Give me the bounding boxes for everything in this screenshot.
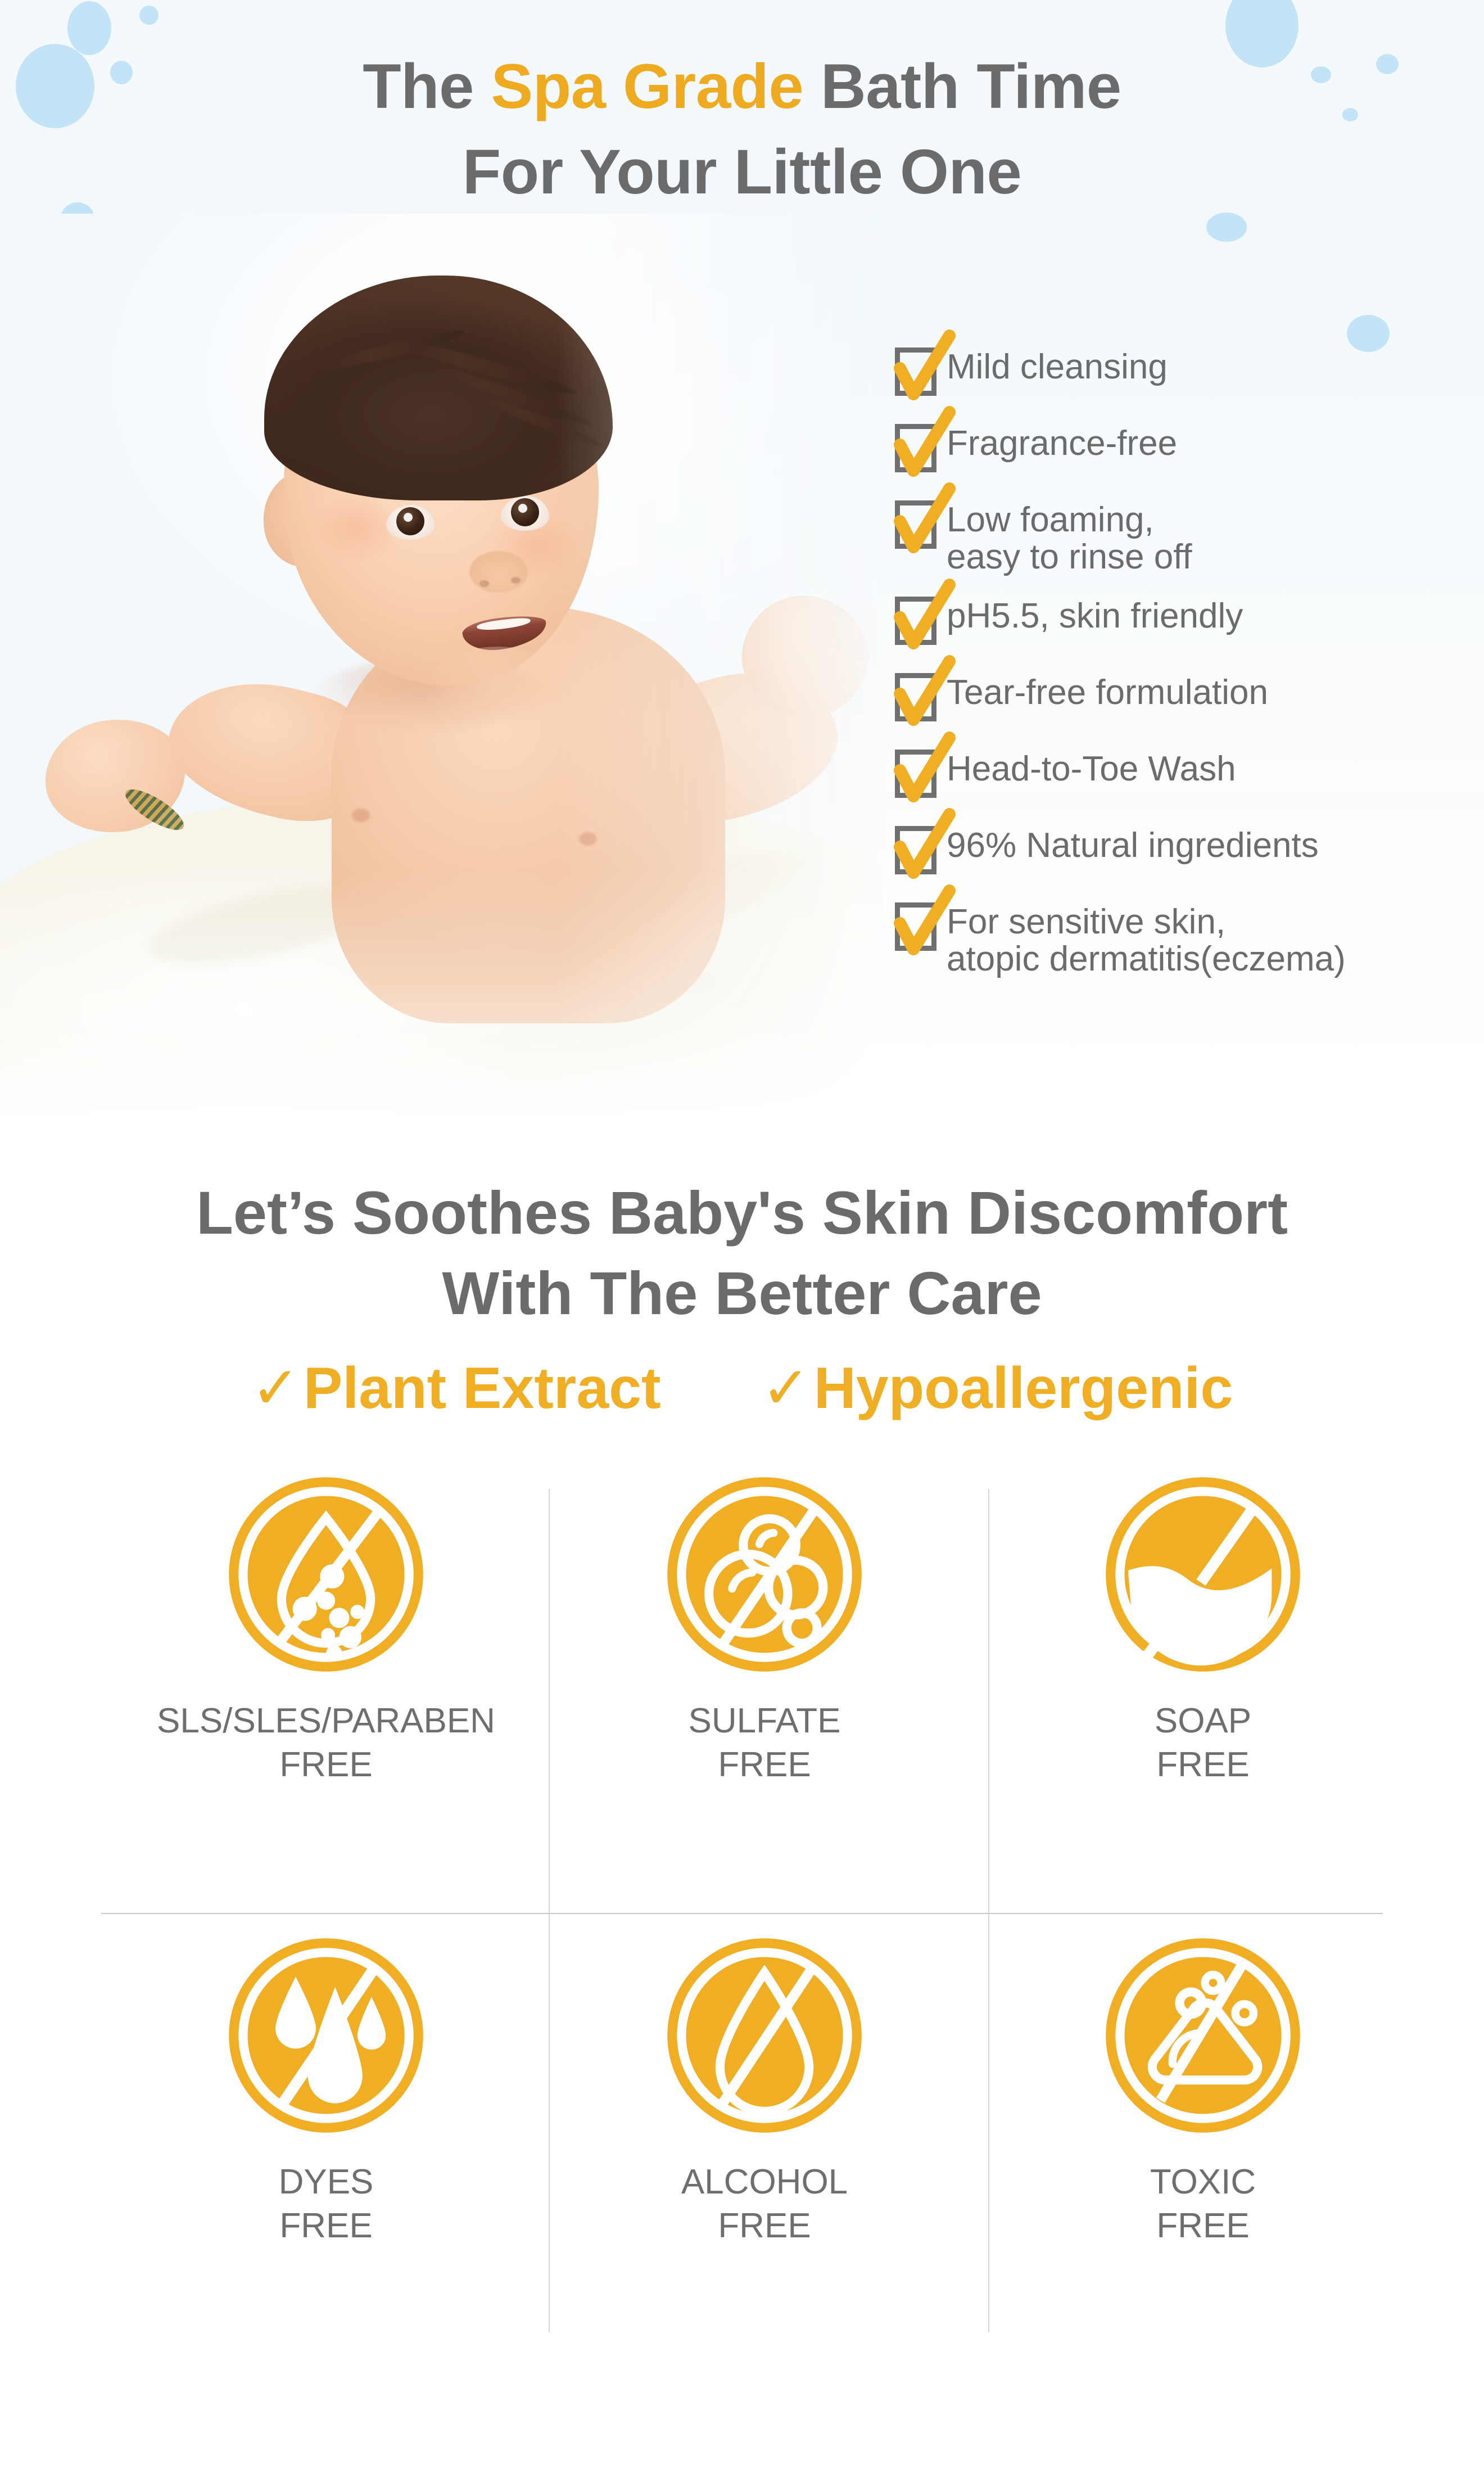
checklist-label: pH5.5, skin friendly xyxy=(947,593,1243,635)
infographic-page: The Spa Grade Bath Time For Your Little … xyxy=(0,0,1484,2469)
check-tick-icon: ✓ xyxy=(762,1356,811,1421)
checkbox-checked-icon xyxy=(895,347,936,396)
free-from-caption: SOAP FREE xyxy=(989,1699,1417,1787)
nostril xyxy=(479,580,489,587)
checkbox-checked-icon xyxy=(895,500,936,549)
bubbles-slash-icon xyxy=(663,1473,866,1676)
free-from-cell: SULFATE FREE xyxy=(551,1473,978,1787)
droplet-bubbles-slash-icon xyxy=(225,1473,427,1676)
checklist-label: Head-to-Toe Wash xyxy=(947,746,1236,788)
checklist-item: 96% Natural ingredients xyxy=(895,823,1474,874)
tag-plant-extract: ✓Plant Extract xyxy=(251,1353,661,1422)
baby-eye xyxy=(501,496,549,531)
middle-tag-row: ✓Plant Extract ✓Hypoallergenic xyxy=(0,1353,1484,1422)
warning-triangle-slash-icon xyxy=(1102,1934,1304,2137)
bubble-decoration xyxy=(1206,213,1247,242)
tag-label: Hypoallergenic xyxy=(814,1356,1233,1421)
checkbox-checked-icon xyxy=(895,826,936,874)
droplet-outline-slash-icon xyxy=(663,1934,866,2137)
pupil xyxy=(396,507,424,535)
checklist-item: pH5.5, skin friendly xyxy=(895,593,1474,645)
free-from-caption: SULFATE FREE xyxy=(551,1699,978,1787)
checkbox-checked-icon xyxy=(895,902,936,951)
middle-heading-line1: Let’s Soothes Baby's Skin Discomfort xyxy=(0,1173,1484,1253)
soap-bar-slash-icon xyxy=(1102,1473,1304,1676)
grid-divider-vertical xyxy=(549,1489,550,2332)
hero-title-line2: For Your Little One xyxy=(0,129,1484,215)
grid-divider-horizontal xyxy=(101,1913,1383,1914)
pupil xyxy=(511,498,539,526)
checklist-item: Head-to-Toe Wash xyxy=(895,746,1474,798)
checkbox-checked-icon xyxy=(895,750,936,798)
feature-checklist: Mild cleansing Fragrance-free Low foamin… xyxy=(895,344,1474,1003)
torso-detail xyxy=(579,832,597,846)
checklist-item: Fragrance-free xyxy=(895,421,1474,472)
hero-title: The Spa Grade Bath Time For Your Little … xyxy=(0,44,1484,215)
free-from-caption: TOXIC FREE xyxy=(989,2160,1417,2248)
hero-title-pre: The xyxy=(363,51,491,121)
checkbox-checked-icon xyxy=(895,424,936,472)
hero-title-highlight: Spa Grade xyxy=(491,51,804,121)
middle-heading-line2: With The Better Care xyxy=(0,1253,1484,1334)
checklist-item: For sensitive skin, atopic dermatitis(ec… xyxy=(895,899,1474,978)
free-from-caption: SLS/SLES/PARABEN FREE xyxy=(112,1699,540,1787)
baby-photo xyxy=(0,214,899,1125)
free-from-caption: ALCOHOL FREE xyxy=(551,2160,978,2248)
baby-chin xyxy=(424,647,571,731)
bubble-decoration xyxy=(139,6,159,25)
checklist-item: Low foaming, easy to rinse off xyxy=(895,497,1474,576)
checklist-label: Tear-free formulation xyxy=(947,670,1268,711)
free-from-cell: ALCOHOL FREE xyxy=(551,1934,978,2248)
checkbox-checked-icon xyxy=(895,673,936,721)
checklist-label: For sensitive skin, atopic dermatitis(ec… xyxy=(947,899,1346,978)
hero-title-post: Bath Time xyxy=(803,51,1121,121)
checklist-label: Low foaming, easy to rinse off xyxy=(947,497,1192,576)
tag-hypoallergenic: ✓Hypoallergenic xyxy=(762,1353,1233,1422)
nostril xyxy=(511,577,521,584)
checklist-item: Mild cleansing xyxy=(895,344,1474,396)
torso-detail xyxy=(352,809,370,822)
baby-nose xyxy=(469,551,528,593)
free-from-cell: DYES FREE xyxy=(112,1934,540,2248)
checklist-label: Fragrance-free xyxy=(947,421,1177,462)
checklist-label: Mild cleansing xyxy=(947,344,1168,386)
free-from-cell: SOAP FREE xyxy=(989,1473,1417,1787)
checklist-label: 96% Natural ingredients xyxy=(947,823,1319,864)
free-from-grid: SLS/SLES/PARABEN FREE SULFATE FREE xyxy=(101,1462,1383,2384)
baby-eye xyxy=(386,505,435,540)
check-tick-icon: ✓ xyxy=(251,1356,300,1421)
checkbox-checked-icon xyxy=(895,597,936,645)
free-from-cell: TOXIC FREE xyxy=(989,1934,1417,2248)
free-from-cell: SLS/SLES/PARABEN FREE xyxy=(112,1473,540,1787)
checklist-item: Tear-free formulation xyxy=(895,670,1474,721)
free-from-caption: DYES FREE xyxy=(112,2160,540,2248)
hero-section: The Spa Grade Bath Time For Your Little … xyxy=(0,0,1484,1158)
tag-label: Plant Extract xyxy=(304,1356,661,1421)
three-droplets-slash-icon xyxy=(225,1934,427,2137)
baby-head xyxy=(253,276,624,703)
middle-section: Let’s Soothes Baby's Skin Discomfort Wit… xyxy=(0,1173,1484,1422)
